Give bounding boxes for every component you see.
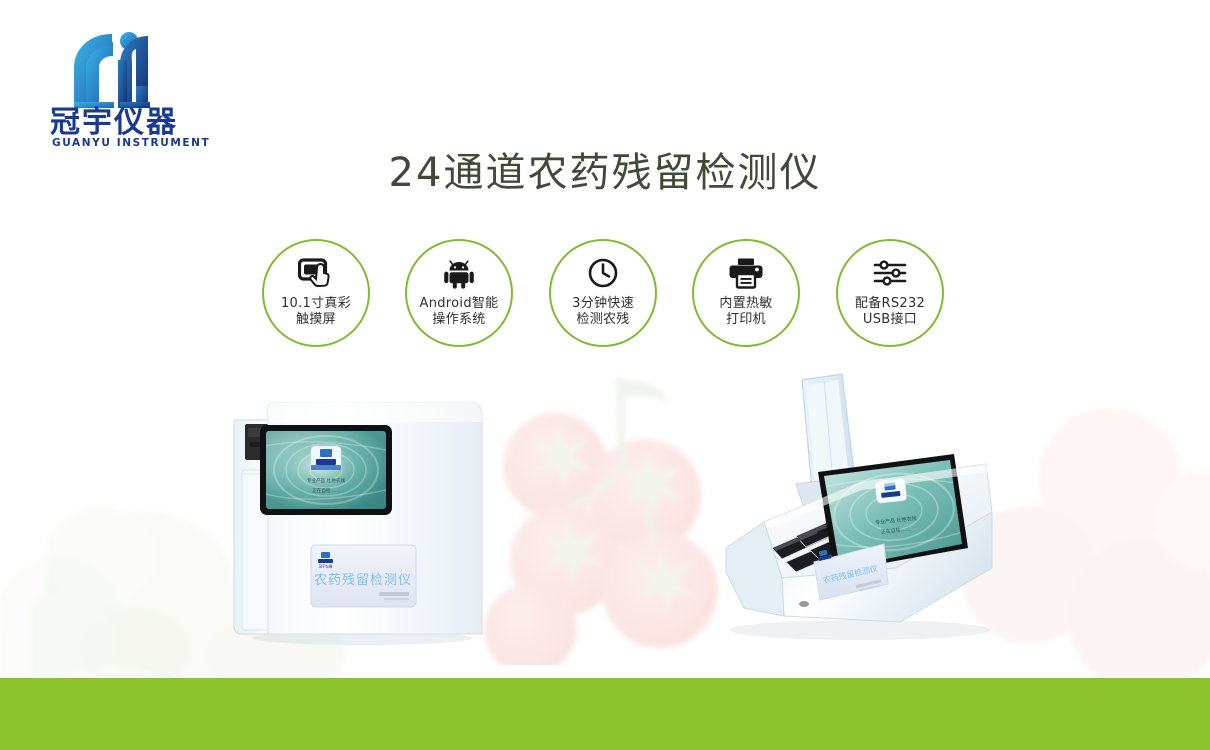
device-right: 专业产品 杜绝农残 正在自检…… 农药残留检测仪: [700, 372, 1000, 644]
android-icon: [443, 254, 475, 292]
feature-label: 10.1寸真彩 触摸屏: [281, 296, 351, 328]
touchscreen-icon: [298, 254, 334, 292]
footer-bar: 河南冠宇仪器有限公司 公司地址：河南省郑州市新郑市薛店镇中德产业园39-3栋公司…: [0, 678, 1210, 750]
feature-item-android: Android智能 操作系统: [405, 239, 513, 347]
device-left: 专业产品 杜绝农残 正在自检…… 冠宇仪器 农药残留检测仪: [232, 402, 485, 645]
feature-line1: 3分钟快速: [572, 296, 634, 312]
feature-line2: 检测农残: [572, 312, 634, 328]
device-left-label-text: 农药残留检测仪: [314, 573, 412, 588]
feature-line1: 配备RS232: [855, 296, 925, 312]
feature-label: 3分钟快速 检测农残: [572, 296, 634, 328]
feature-line2: 打印机: [719, 312, 772, 328]
feature-item-touchscreen: 10.1寸真彩 触摸屏: [262, 239, 370, 347]
feature-line2: 触摸屏: [281, 312, 351, 328]
feature-line2: USB接口: [855, 312, 925, 328]
device-left-screen-line2: 正在自检……: [312, 487, 340, 494]
device-left-screen-line1: 专业产品 杜绝农残: [307, 477, 346, 484]
feature-label: 内置热敏 打印机: [719, 296, 772, 328]
company-logo: 冠宇仪器 GUANYU INSTRUMENT: [34, 24, 214, 149]
pepper-watermark: [0, 520, 190, 690]
poster-canvas: 冠宇仪器 GUANYU INSTRUMENT 24通道农药残留检测仪 10.1寸…: [0, 0, 1210, 750]
feature-item-interface: 配备RS232 USB接口: [836, 239, 944, 347]
sliders-icon: [873, 254, 907, 292]
feature-line2: 操作系统: [420, 312, 499, 328]
feature-item-speed: 3分钟快速 检测农残: [549, 239, 657, 347]
feature-line1: 内置热敏: [719, 296, 772, 312]
logo-wordmark-cn: 冠宇仪器: [50, 105, 178, 140]
feature-item-printer: 内置热敏 打印机: [692, 239, 800, 347]
page-title: 24通道农药残留检测仪: [0, 140, 1210, 198]
feature-line1: 10.1寸真彩: [281, 296, 351, 312]
feature-line1: Android智能: [420, 296, 499, 312]
feature-list: 10.1寸真彩 触摸屏: [262, 239, 962, 351]
feature-label: 配备RS232 USB接口: [855, 296, 925, 328]
printer-icon: [728, 254, 764, 292]
clock-icon: [587, 254, 619, 292]
device-left-label-logo: 冠宇仪器: [319, 564, 333, 569]
feature-label: Android智能 操作系统: [420, 296, 499, 328]
